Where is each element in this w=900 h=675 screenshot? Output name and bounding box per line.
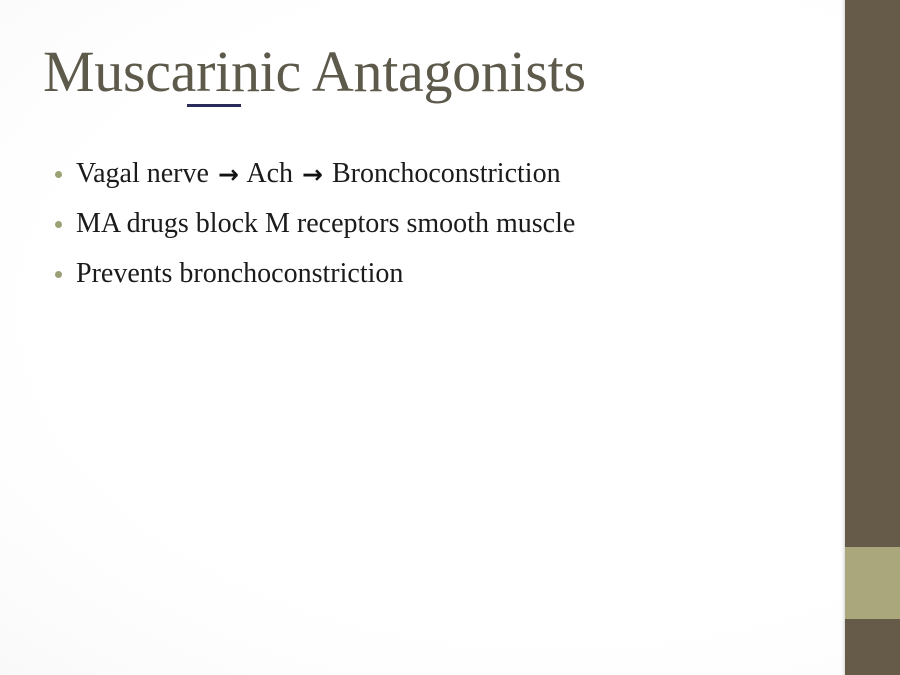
right-arrow-icon: → xyxy=(216,160,241,189)
right-arrow-icon: → xyxy=(300,160,325,189)
list-item: Prevents bronchoconstriction xyxy=(50,255,810,300)
list-item: MA drugs block M receptors smooth muscle xyxy=(50,205,810,250)
presentation-slide: Muscarinic Antagonists Vagal nerve → Ach… xyxy=(0,0,900,675)
right-decorative-band xyxy=(845,0,900,675)
list-item: Vagal nerve → Ach → Bronchoconstriction xyxy=(50,155,810,200)
title-underline-mark xyxy=(187,104,241,107)
bullet-dot-icon xyxy=(50,205,76,243)
slide-title-block: Muscarinic Antagonists xyxy=(43,38,783,106)
upper-dark-band xyxy=(845,0,900,547)
page-title: Muscarinic Antagonists xyxy=(43,38,783,106)
bullet-dot-icon xyxy=(50,155,76,193)
slide-body-bullet-list: Vagal nerve → Ach → Bronchoconstriction … xyxy=(50,155,810,305)
list-item-text: MA drugs block M receptors smooth muscle xyxy=(76,205,810,243)
list-item-text: Prevents bronchoconstriction xyxy=(76,255,810,293)
list-item-text: Vagal nerve → Ach → Bronchoconstriction xyxy=(76,155,810,193)
middle-khaki-band xyxy=(845,547,900,619)
lower-dark-band xyxy=(845,619,900,675)
bullet-dot-icon xyxy=(50,255,76,293)
